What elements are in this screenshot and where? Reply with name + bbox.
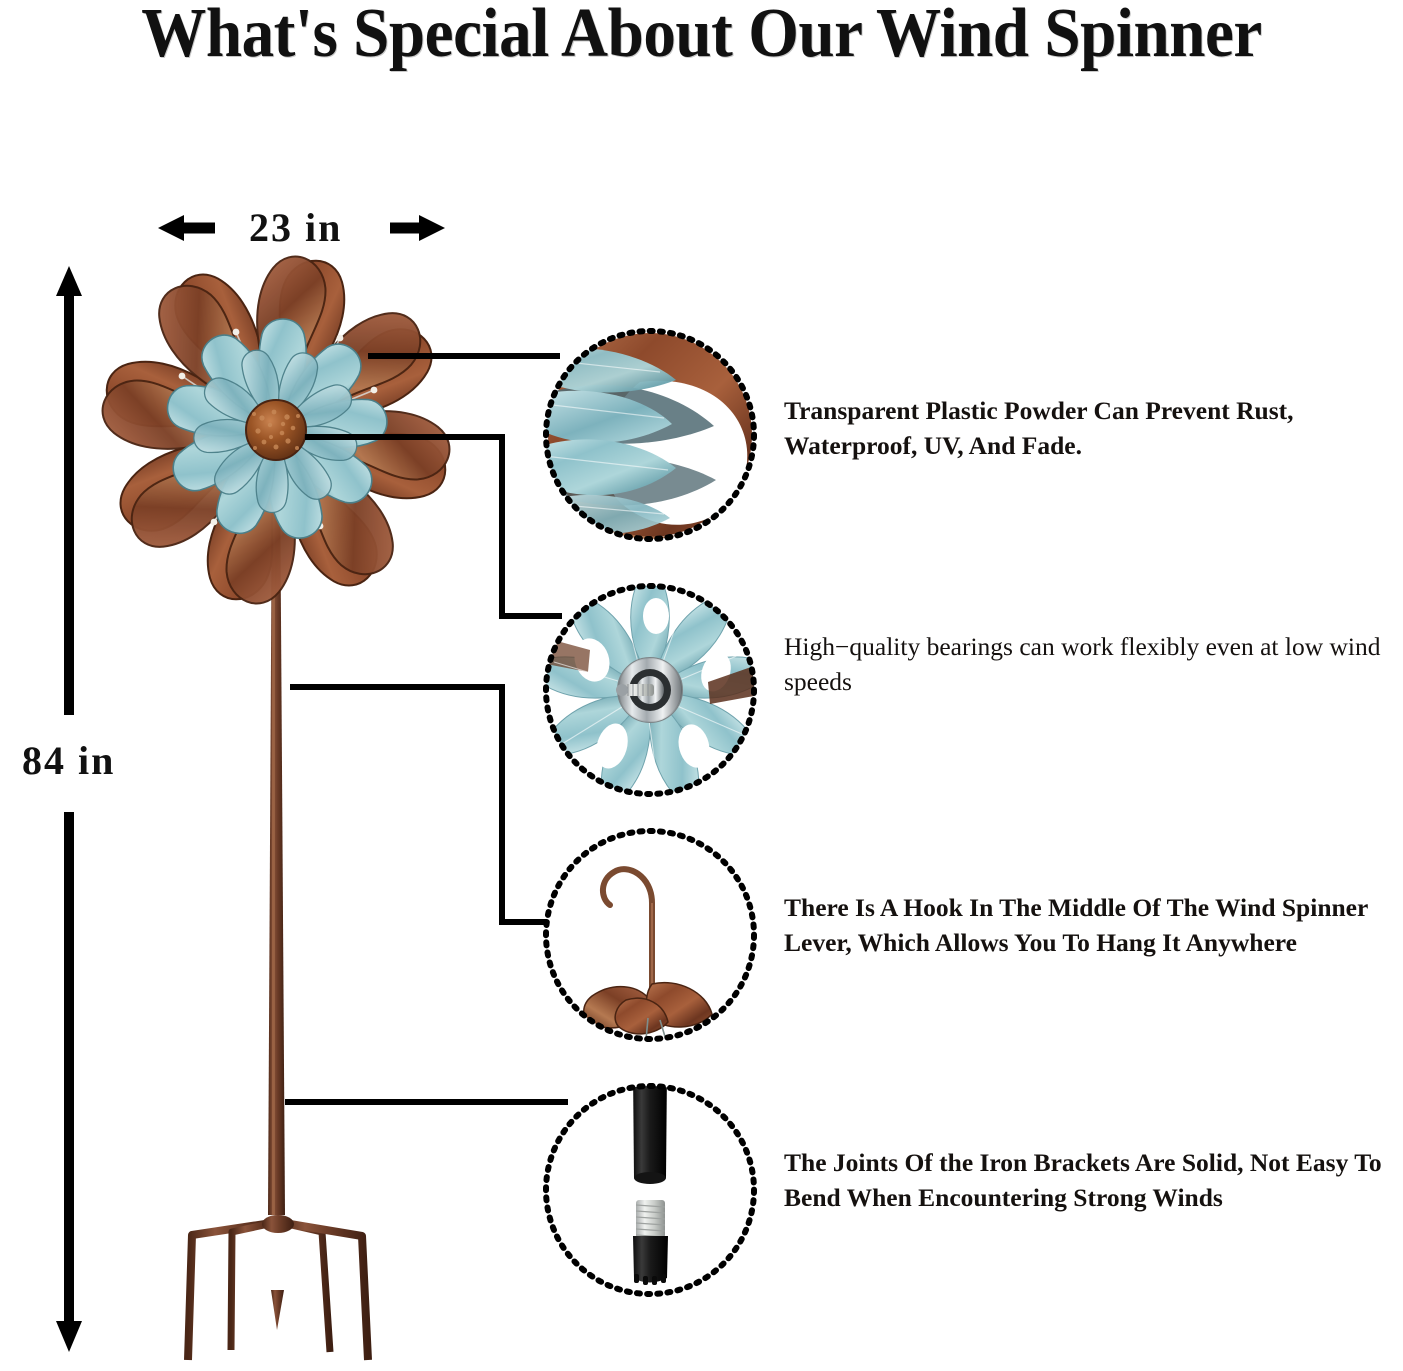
infographic-canvas: [0, 0, 1403, 1371]
width-dimension-arrow: [158, 215, 445, 241]
detail-circle-coating: [530, 331, 755, 544]
leader-line-hook: [290, 687, 560, 922]
detail-circle-joints: [546, 1070, 754, 1294]
detail-circle-hook: [546, 831, 754, 1040]
rotor-center-hub: [246, 400, 306, 460]
height-dimension-arrow: [56, 266, 82, 1352]
wind-spinner-product: [94, 248, 459, 1360]
ground-stake: [188, 1200, 368, 1360]
detail-circle-bearing: [544, 586, 756, 794]
outer-copper-rotor: [94, 248, 459, 613]
